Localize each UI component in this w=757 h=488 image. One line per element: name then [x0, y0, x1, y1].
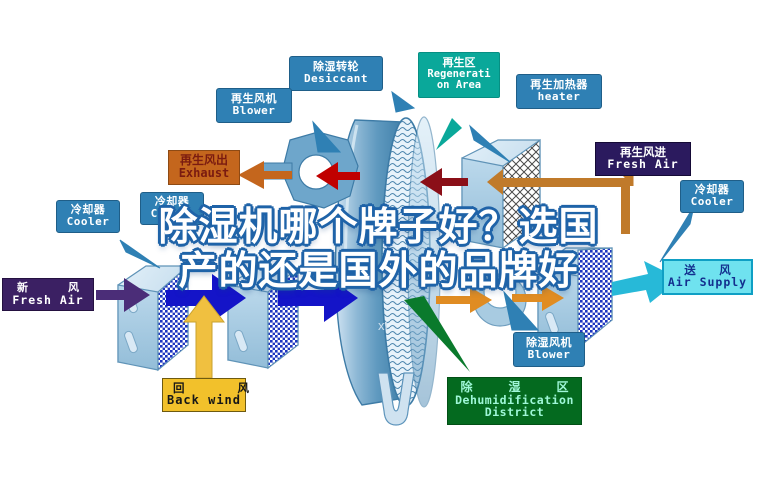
label-air-supply[interactable]: 送 风 Air Supply: [662, 259, 753, 295]
label-air-supply-en: Air Supply: [664, 276, 751, 288]
label-fresh-air-inlet-en: Fresh Air: [3, 294, 93, 306]
label-desiccant-rotor[interactable]: 除湿转轮 Desiccant: [289, 56, 383, 91]
label-cooler-right[interactable]: 冷却器 Cooler: [680, 180, 744, 213]
label-regeneration-exhaust-en: Exhaust: [169, 167, 239, 180]
label-regeneration-area[interactable]: 再生区 Regenerati on Area: [418, 52, 500, 98]
label-regeneration-area-en2: on Area: [419, 80, 499, 91]
watermark-text: xt: [378, 318, 389, 333]
callout-leader-teal: [436, 118, 462, 150]
label-regeneration-heater[interactable]: 再生加热器 heater: [516, 74, 602, 109]
label-regeneration-exhaust-cn: 再生风出: [169, 154, 239, 167]
label-cooler-right-en: Cooler: [681, 196, 743, 208]
label-back-wind-en: Back wind: [163, 394, 245, 407]
cooler-unit-2-graphic: [228, 268, 298, 368]
label-regeneration-exhaust[interactable]: 再生风出 Exhaust: [168, 150, 240, 185]
label-dehumidification-area-en2: District: [448, 406, 581, 418]
label-cooler-mid-en: Cooler: [141, 208, 203, 220]
label-fresh-air-inlet[interactable]: 新 风 Fresh Air: [2, 278, 94, 311]
label-regeneration-heater-en: heater: [517, 91, 601, 103]
label-dehumidification-blower[interactable]: 除湿风机 Blower: [513, 332, 585, 367]
label-dehumidification-area-cn: 除 湿 区: [448, 381, 581, 394]
diagram-canvas: xt 除湿转轮 Desiccant 再生风机 Blower 再生区 Regene…: [0, 0, 757, 488]
label-back-wind[interactable]: 回 风 Back wind: [162, 378, 246, 412]
label-regeneration-fresh-air[interactable]: 再生风进 Fresh Air: [595, 142, 691, 176]
label-regeneration-blower[interactable]: 再生风机 Blower: [216, 88, 292, 123]
label-cooler-left[interactable]: 冷却器 Cooler: [56, 200, 120, 233]
regeneration-blower-graphic: [262, 132, 358, 208]
label-regeneration-blower-en: Blower: [217, 105, 291, 117]
label-desiccant-rotor-en: Desiccant: [290, 73, 382, 85]
label-dehumidification-blower-en: Blower: [514, 349, 584, 361]
label-cooler-mid[interactable]: 冷却器 Cooler: [140, 192, 204, 225]
label-cooler-left-en: Cooler: [57, 216, 119, 228]
label-dehumidification-area[interactable]: 除 湿 区 Dehumidification District: [447, 377, 582, 425]
label-regeneration-fresh-air-en: Fresh Air: [596, 158, 690, 170]
